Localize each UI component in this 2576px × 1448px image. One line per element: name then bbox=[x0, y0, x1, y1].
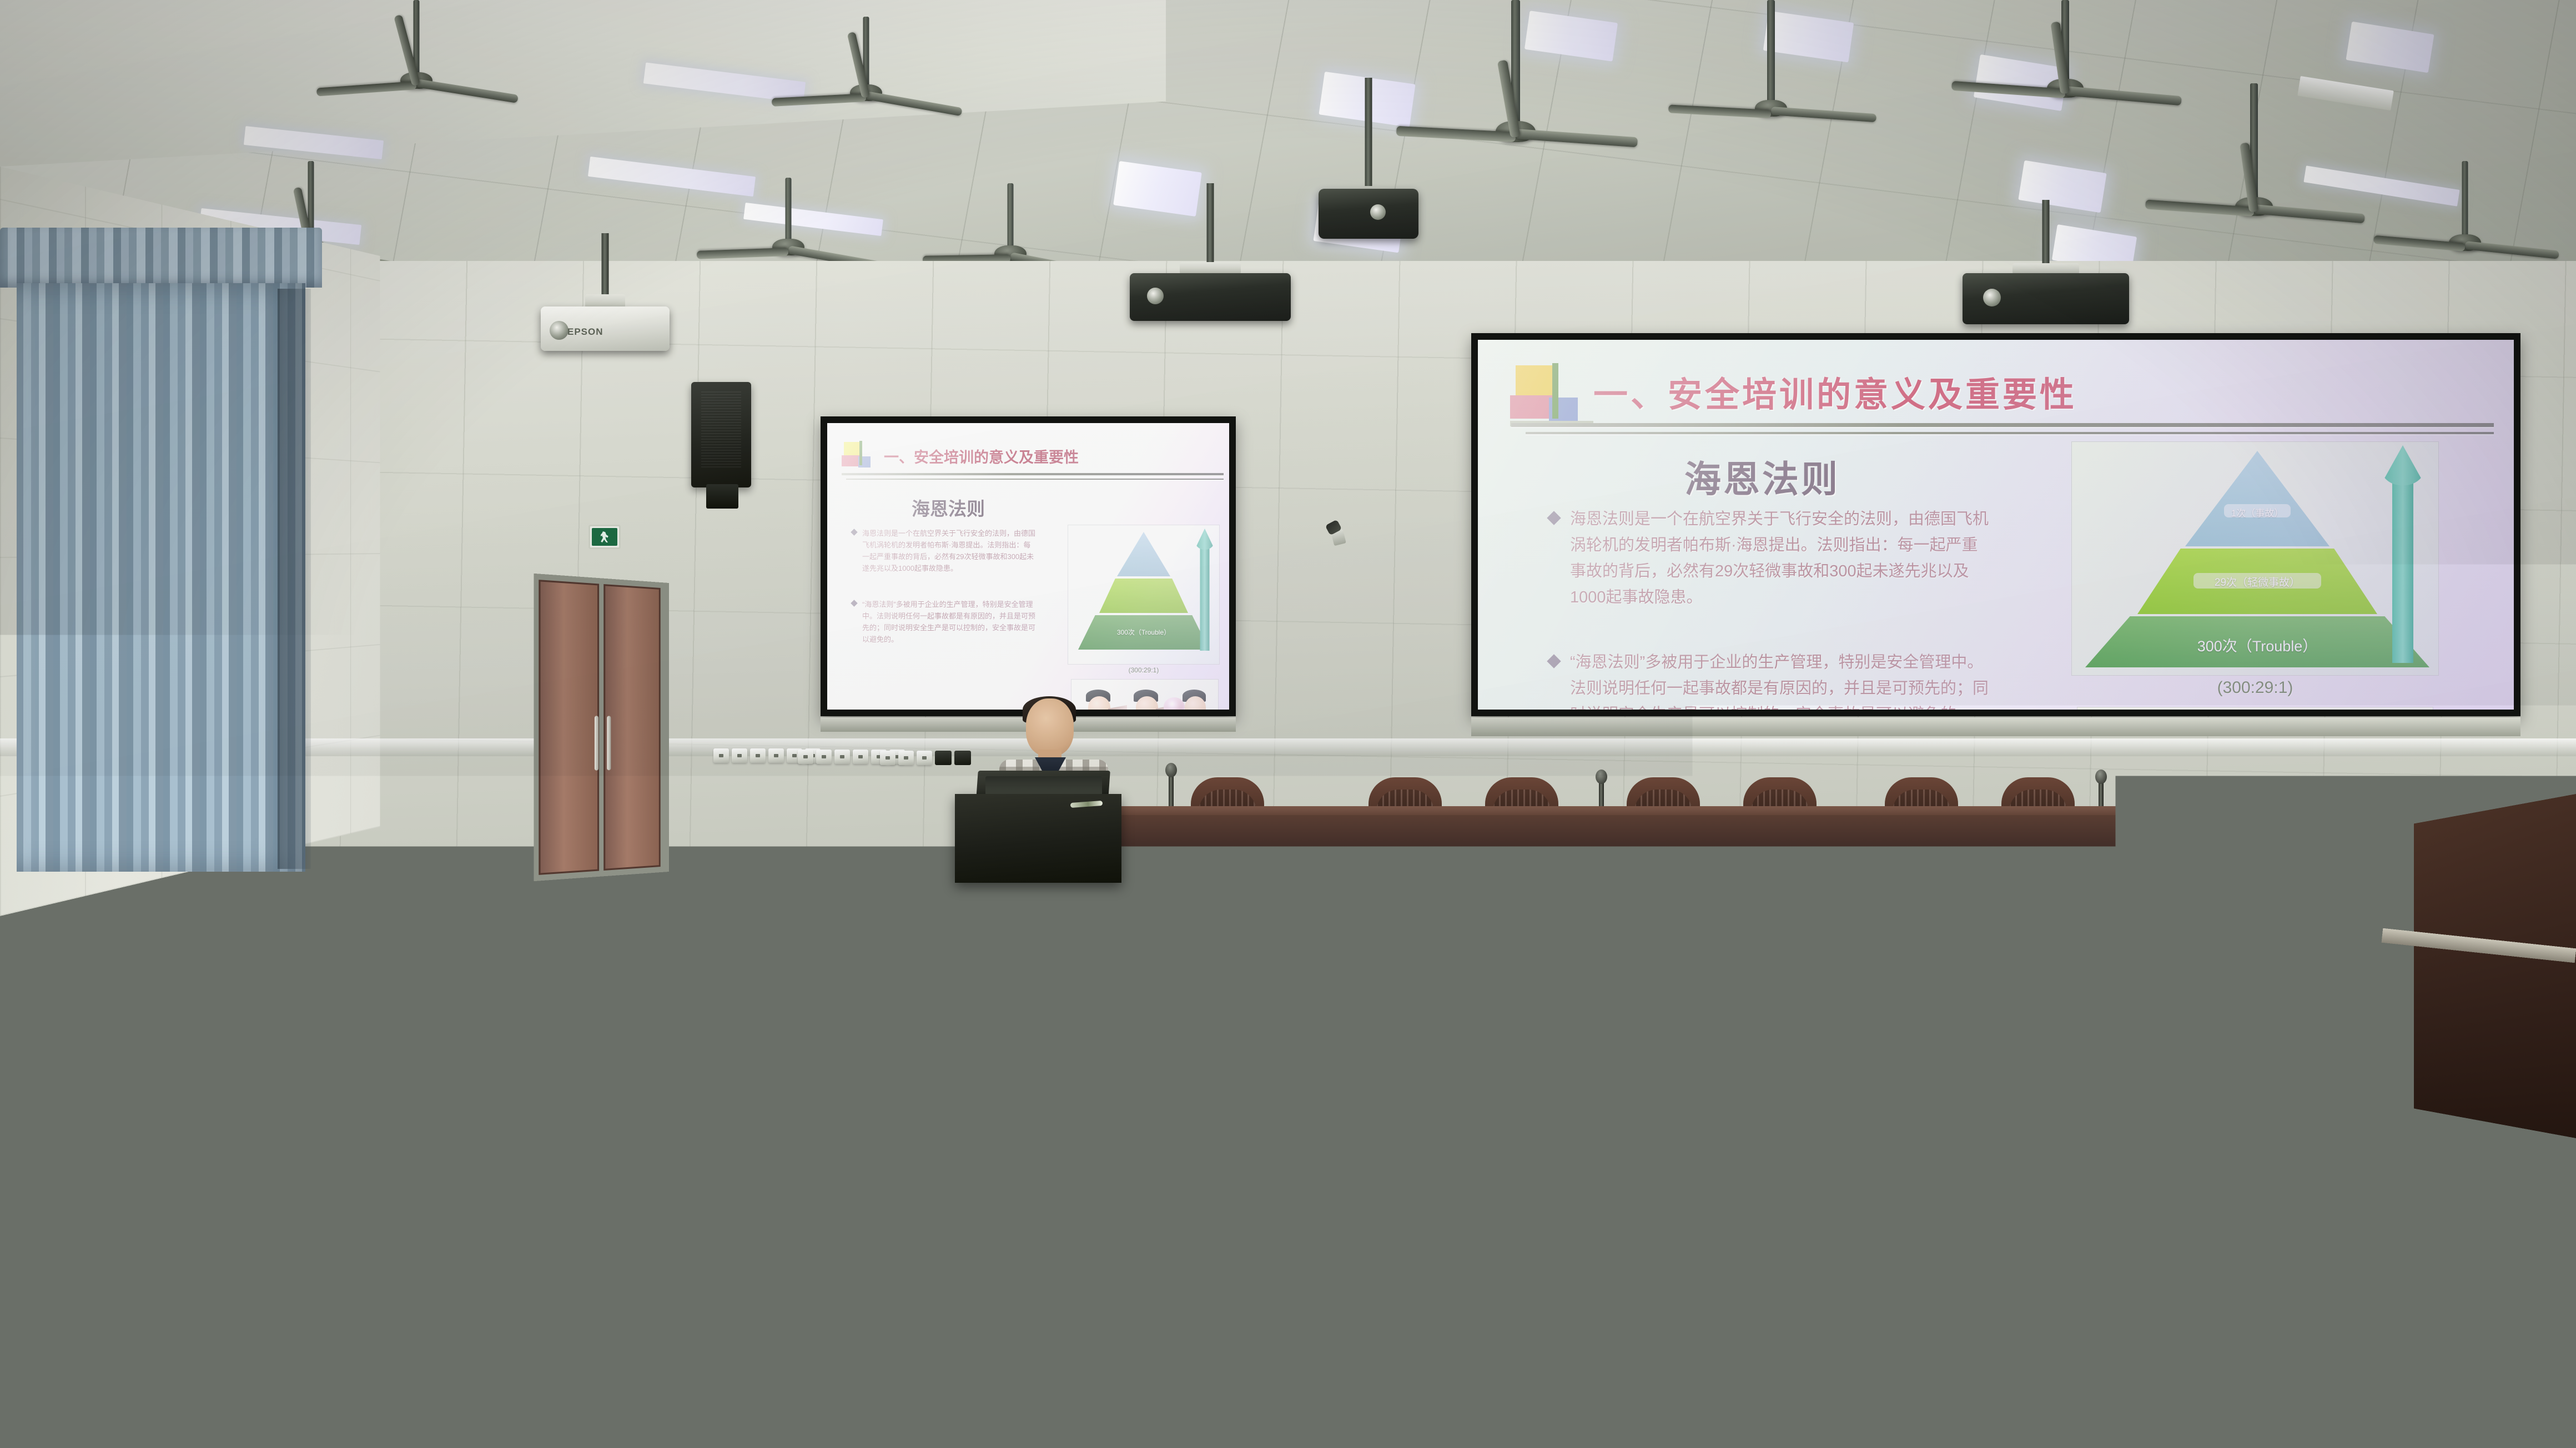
screen-bottom-bar-large bbox=[1471, 717, 2520, 736]
auditorium-seat[interactable] bbox=[801, 1002, 938, 1108]
ceiling-fan bbox=[2143, 83, 2365, 244]
auditorium-seat[interactable] bbox=[1988, 921, 2106, 1010]
pyramid-level-middle: 29次（轻微事故） bbox=[2137, 549, 2377, 614]
slide-heading-small: 海恩法则 bbox=[912, 494, 985, 521]
ceiling-fan bbox=[772, 17, 960, 133]
pyramid-level-top: 1次（事故） bbox=[2185, 451, 2330, 546]
pyramid-level-bottom: 300次（Trouble） bbox=[1078, 615, 1209, 650]
projector-epson-left: EPSON bbox=[533, 233, 677, 355]
pyramid-middle-label: 29次（轻微事故） bbox=[2137, 574, 2377, 589]
slide-bullets-large: 海恩法则是一个在航空界关于飞行安全的法则，由德国飞机涡轮机的发明者帕布斯·海恩提… bbox=[1549, 506, 1993, 710]
slide-title-rule bbox=[846, 479, 1224, 480]
exit-sign-icon bbox=[588, 525, 621, 549]
light-switch[interactable] bbox=[834, 750, 850, 764]
wall-trim-line bbox=[0, 738, 2576, 756]
pyramid-caption-small: (300:29:1) bbox=[1068, 666, 1219, 674]
pyramid-arrow-icon bbox=[2381, 445, 2425, 662]
projection-screen-small: 一、安全培训的意义及重要性 海恩法则 海恩法则是一个在航空界关于飞行安全的法则，… bbox=[821, 416, 1236, 716]
projection-screen-large: 一、安全培训的意义及重要性 海恩法则 海恩法则是一个在航空界关于飞行安全的法则，… bbox=[1471, 333, 2520, 716]
ceiling-fan bbox=[1666, 0, 1876, 167]
projector-lens-icon bbox=[1370, 204, 1386, 220]
slide-bullet: “海恩法则”多被用于企业的生产管理，特别是安全管理中。法则说明任何一起事故都是有… bbox=[1570, 650, 1993, 710]
pyramid-panel-small: 300次（Trouble） bbox=[1068, 525, 1219, 664]
auditorium-seat[interactable] bbox=[527, 996, 663, 1102]
curtain-valance bbox=[0, 228, 322, 288]
fan-blade bbox=[866, 91, 963, 116]
cartoon-person bbox=[1178, 690, 1216, 710]
auditorium-seat[interactable] bbox=[1357, 1125, 1531, 1268]
fan-blade bbox=[2253, 204, 2365, 223]
auditorium-seat[interactable] bbox=[827, 1277, 1055, 1448]
slide-title-small: 一、安全培训的意义及重要性 bbox=[884, 445, 1079, 467]
light-switch[interactable] bbox=[750, 748, 766, 763]
projector-lens-icon bbox=[1147, 288, 1164, 304]
slide-small: 一、安全培训的意义及重要性 海恩法则 海恩法则是一个在航空界关于飞行安全的法则，… bbox=[827, 423, 1229, 710]
slide-title-large: 一、安全培训的意义及重要性 bbox=[1593, 366, 2077, 416]
auditorium-seat[interactable] bbox=[157, 1108, 323, 1247]
pyramid-top-label: 1次（事故） bbox=[2185, 505, 2330, 519]
slide-bullet: 海恩法则是一个在航空界关于飞行安全的法则，由德国飞机涡轮机的发明者帕布斯·海恩提… bbox=[862, 527, 1036, 574]
ceiling-fan bbox=[1405, 0, 1627, 167]
light-switch[interactable] bbox=[816, 750, 832, 764]
projector-center bbox=[1121, 183, 1299, 328]
pyramid-bottom-label: 300次（Trouble） bbox=[1078, 627, 1209, 637]
fan-blade bbox=[1515, 129, 1638, 147]
light-switch[interactable] bbox=[798, 750, 813, 764]
power-outlet-bank[interactable] bbox=[880, 751, 971, 765]
slide-bullet: 海恩法则是一个在航空界关于飞行安全的法则，由德国飞机涡轮机的发明者帕布斯·海恩提… bbox=[1570, 506, 1993, 611]
auditorium-seat[interactable] bbox=[0, 1271, 200, 1448]
light-switch[interactable] bbox=[713, 748, 729, 763]
pyramid-level-middle bbox=[1099, 579, 1188, 613]
wall-camera-icon bbox=[1327, 519, 1350, 545]
auditorium-seat[interactable] bbox=[1008, 1122, 1181, 1264]
light-switch[interactable] bbox=[898, 751, 914, 765]
power-outlet[interactable] bbox=[954, 751, 971, 765]
fan-blade bbox=[1770, 107, 1876, 122]
ceiling-fan bbox=[316, 0, 516, 117]
curtain-shadow-edge bbox=[278, 289, 311, 869]
projector-lens-icon bbox=[1983, 289, 2001, 306]
slide-bullets-small: 海恩法则是一个在航空界关于飞行安全的法则，由德国飞机涡轮机的发明者帕布斯·海恩提… bbox=[852, 527, 1036, 645]
slide-title-rule bbox=[842, 473, 1224, 475]
cartoon-person bbox=[1129, 690, 1168, 710]
window-curtain[interactable] bbox=[0, 228, 322, 877]
cap-logo-icon bbox=[517, 1219, 545, 1247]
light-switch[interactable] bbox=[732, 748, 747, 763]
auditorium-seat[interactable] bbox=[449, 899, 562, 985]
auditorium-seat[interactable] bbox=[1148, 913, 1265, 1000]
light-switch[interactable] bbox=[917, 751, 932, 765]
slide-heading-large: 海恩法则 bbox=[1684, 450, 1840, 503]
auditorium-seat[interactable] bbox=[1078, 1006, 1217, 1114]
slide-bullet: “海恩法则”多被用于企业的生产管理，特别是安全管理中。法则说明任何一起事故都是有… bbox=[862, 599, 1036, 645]
pyramid-panel-large: 1次（事故） 29次（轻微事故） 300次（Trouble） bbox=[2072, 442, 2438, 675]
light-switch[interactable] bbox=[880, 751, 895, 765]
projector-lens-icon bbox=[550, 321, 568, 340]
fan-blade bbox=[697, 248, 788, 259]
pyramid-level-bottom: 300次（Trouble） bbox=[2085, 616, 2429, 667]
auditorium-seat[interactable] bbox=[680, 904, 794, 991]
fan-blade bbox=[416, 79, 519, 103]
auditorium-seat[interactable] bbox=[1386, 915, 1503, 1004]
auditorium-seat[interactable] bbox=[1745, 918, 1864, 1007]
pyramid-level-top bbox=[1117, 532, 1170, 576]
slide-decor-logo bbox=[1510, 363, 1582, 430]
fan-blade bbox=[772, 93, 867, 107]
pyramid-caption-large: (300:29:1) bbox=[2072, 678, 2438, 697]
auditorium-seat[interactable] bbox=[222, 894, 333, 978]
pyramid-arrow-icon bbox=[1195, 529, 1215, 651]
slide-large: 一、安全培训的意义及重要性 海恩法则 海恩法则是一个在航空界关于飞行安全的法则，… bbox=[1478, 340, 2514, 710]
auditorium-seat[interactable] bbox=[836, 1119, 1007, 1260]
projector-brand-label: EPSON bbox=[567, 326, 603, 338]
power-outlet[interactable] bbox=[935, 751, 952, 765]
lecture-hall-photo: EPSON bbox=[0, 0, 2576, 1448]
projector-far-right bbox=[1954, 200, 2137, 333]
fan-blade bbox=[2464, 241, 2559, 259]
auditorium-seat[interactable] bbox=[2193, 1287, 2415, 1448]
speaker-bracket bbox=[706, 484, 738, 509]
fan-blade bbox=[316, 81, 417, 97]
slide-decor-logo bbox=[842, 441, 875, 470]
slide-title-rule bbox=[1526, 432, 2494, 434]
light-switch[interactable] bbox=[853, 750, 868, 764]
auditorium-seat[interactable] bbox=[1358, 1009, 1498, 1117]
light-switch[interactable] bbox=[768, 748, 784, 763]
cartoon-panel-large bbox=[2077, 707, 2433, 710]
pyramid-bottom-label: 300次（Trouble） bbox=[2085, 634, 2429, 656]
projector-right-a bbox=[1305, 78, 1432, 239]
presenter-head bbox=[1026, 698, 1074, 756]
curtain-panel bbox=[17, 283, 305, 872]
auditorium-seat[interactable] bbox=[0, 888, 109, 972]
wall-speaker bbox=[691, 382, 751, 487]
slide-title-rule bbox=[1511, 423, 2494, 427]
